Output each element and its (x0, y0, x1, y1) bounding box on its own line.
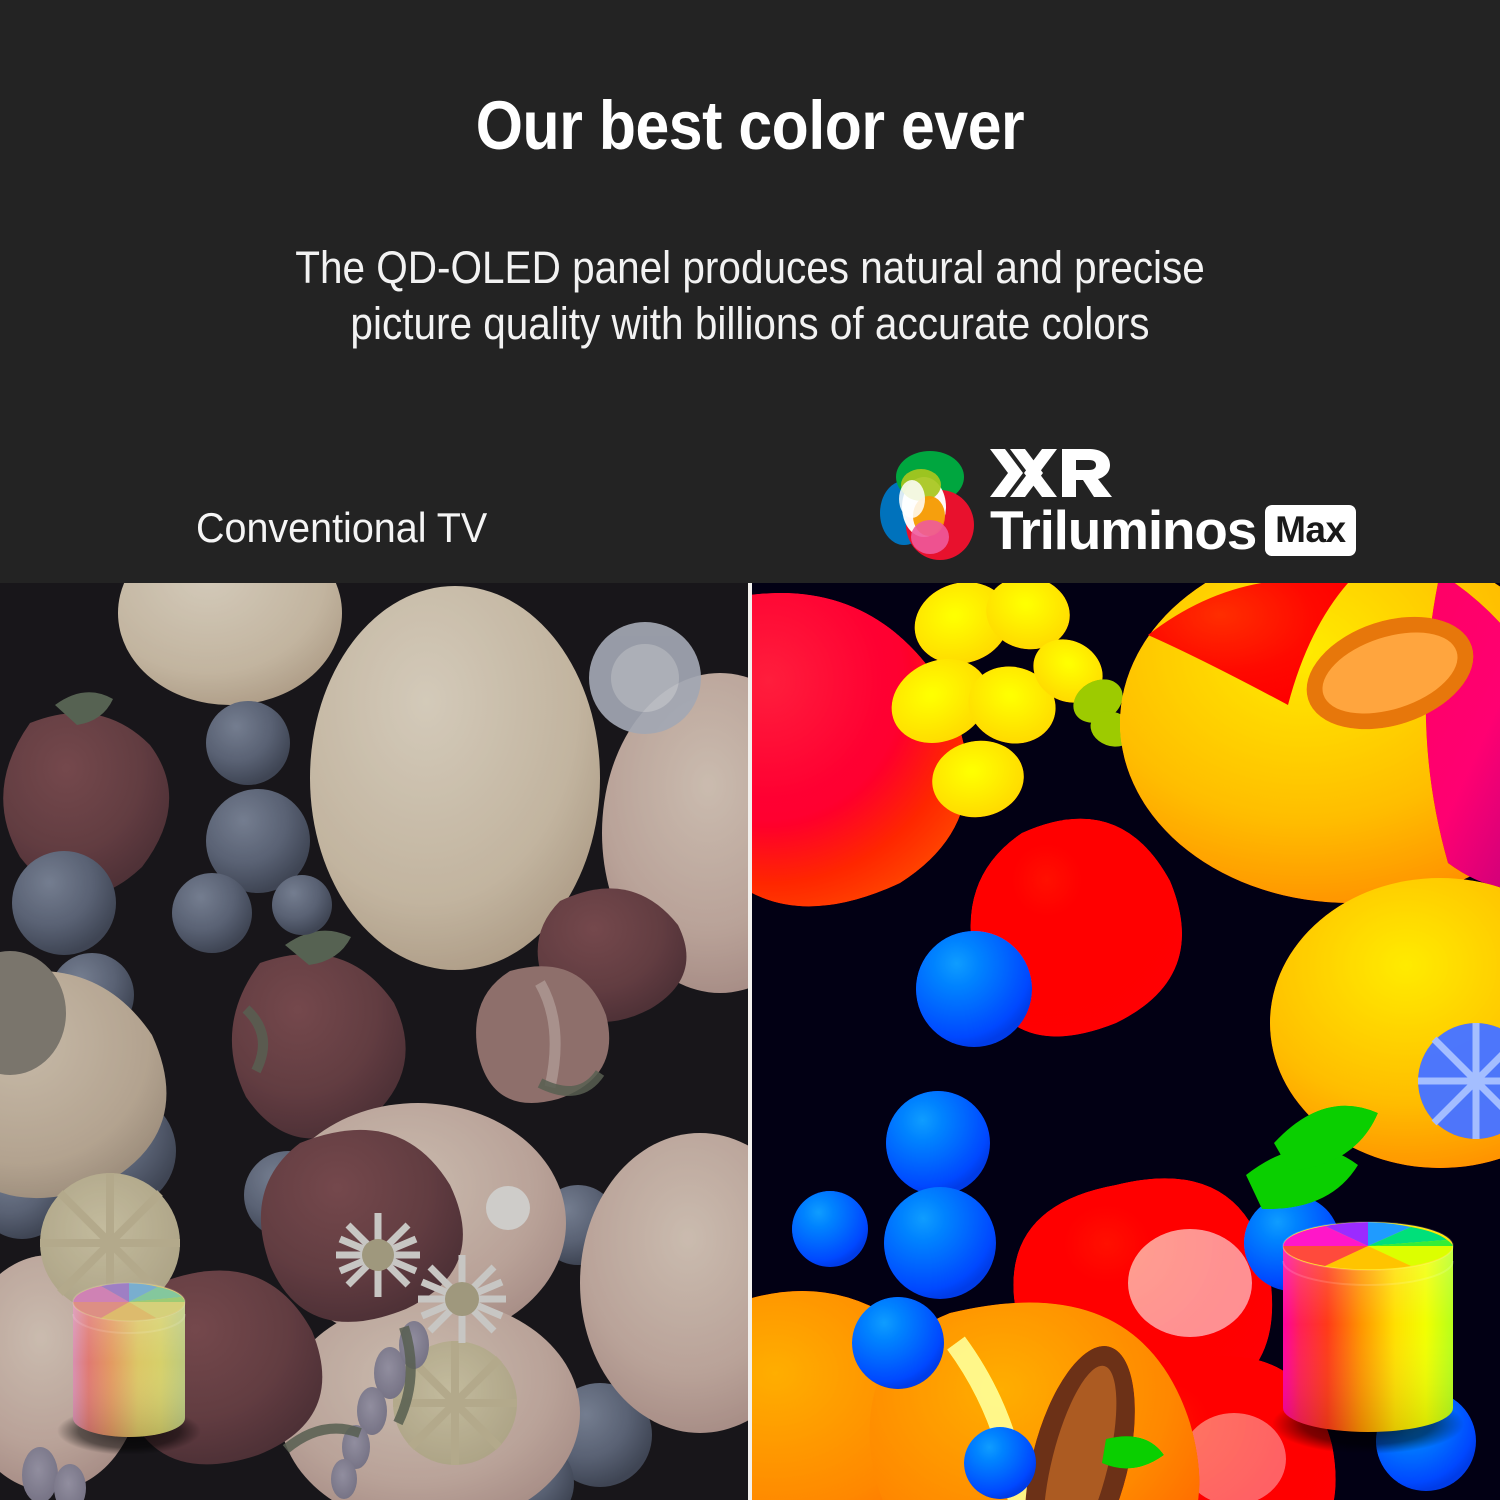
comparison-divider (748, 583, 752, 1500)
xr-logotype-icon (990, 447, 1114, 499)
header-section: Our best color ever The QD-OLED panel pr… (0, 0, 1500, 583)
subtitle-line-2: picture quality with billions of accurat… (210, 296, 1290, 352)
promo-page: Our best color ever The QD-OLED panel pr… (0, 0, 1500, 1500)
narrow-color-gamut-cylinder-icon (46, 1268, 212, 1458)
xr-triluminos-wordmark: Triluminos Max (990, 445, 1398, 567)
max-badge: Max (1265, 505, 1355, 556)
page-subtitle: The QD-OLED panel produces natural and p… (210, 240, 1290, 352)
conventional-tv-label: Conventional TV (196, 503, 487, 553)
subtitle-line-1: The QD-OLED panel produces natural and p… (210, 240, 1290, 296)
xr-triluminos-max-logo: Triluminos Max (868, 445, 1398, 570)
triluminos-max-row: Triluminos Max (990, 499, 1356, 561)
wide-color-gamut-cylinder-icon (1259, 1206, 1477, 1456)
triluminos-text: Triluminos (990, 501, 1256, 559)
triluminos-blob-icon (868, 447, 986, 565)
page-title: Our best color ever (90, 88, 1410, 164)
